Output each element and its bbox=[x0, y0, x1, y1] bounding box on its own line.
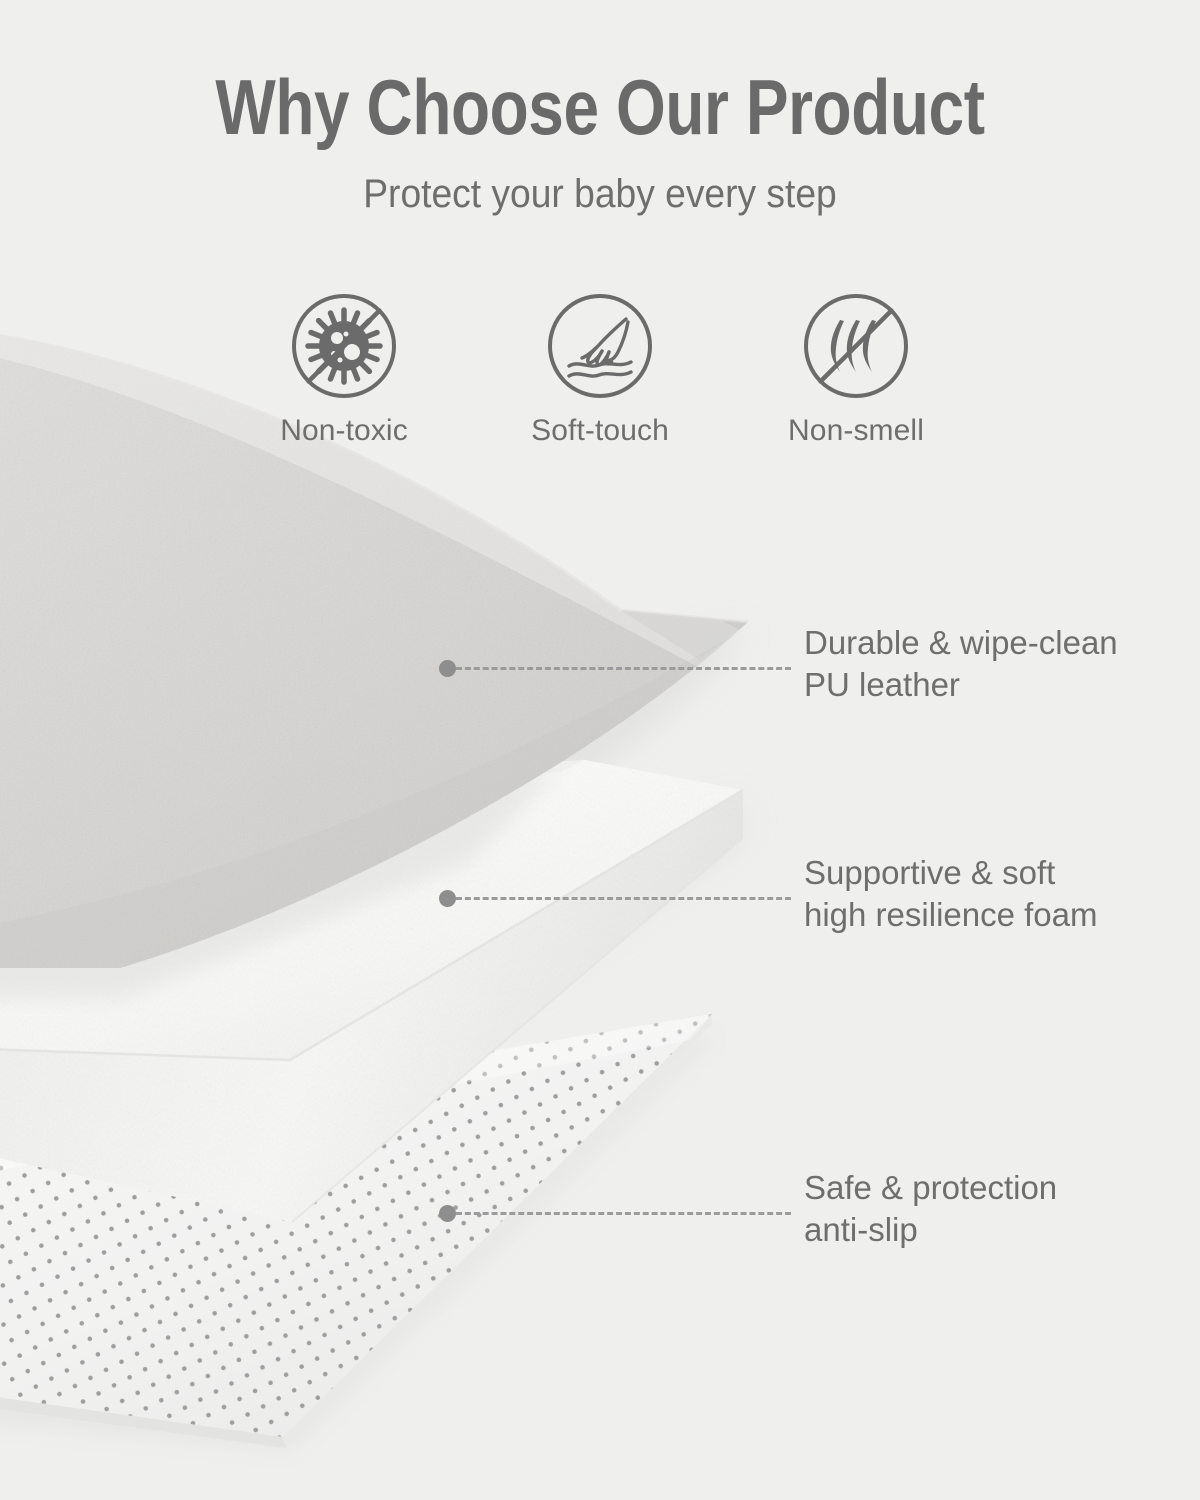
header: Why Choose Our Product Protect your baby… bbox=[0, 0, 1200, 214]
badge-label: Non-toxic bbox=[280, 414, 408, 448]
product-infographic: Why Choose Our Product Protect your baby… bbox=[0, 0, 1200, 1500]
callout-leader-line bbox=[456, 1212, 791, 1215]
callout-leader-line bbox=[456, 897, 791, 900]
page-title: Why Choose Our Product bbox=[108, 0, 1092, 146]
callout-dot bbox=[439, 890, 456, 907]
badge-label: Non-smell bbox=[788, 414, 924, 448]
callout-dot bbox=[439, 660, 456, 677]
callout-label: Safe & protection anti-slip bbox=[804, 1167, 1200, 1251]
callout-leader-line bbox=[456, 667, 791, 670]
feature-badges: Non-toxic bbox=[0, 290, 1200, 448]
badge-non-smell: Non-smell bbox=[776, 290, 936, 448]
badge-non-toxic: Non-toxic bbox=[264, 290, 424, 448]
callout-dot bbox=[439, 1205, 456, 1222]
product-layer-illustration bbox=[0, 0, 1200, 1500]
no-germ-icon bbox=[288, 290, 400, 402]
badge-label: Soft-touch bbox=[531, 414, 669, 448]
hand-soft-touch-icon bbox=[544, 290, 656, 402]
no-smell-icon bbox=[800, 290, 912, 402]
callout-label: Durable & wipe-clean PU leather bbox=[804, 622, 1200, 706]
page-subtitle: Protect your baby every step bbox=[42, 146, 1158, 214]
callout-label: Supportive & soft high resilience foam bbox=[804, 852, 1200, 936]
badge-soft-touch: Soft-touch bbox=[520, 290, 680, 448]
